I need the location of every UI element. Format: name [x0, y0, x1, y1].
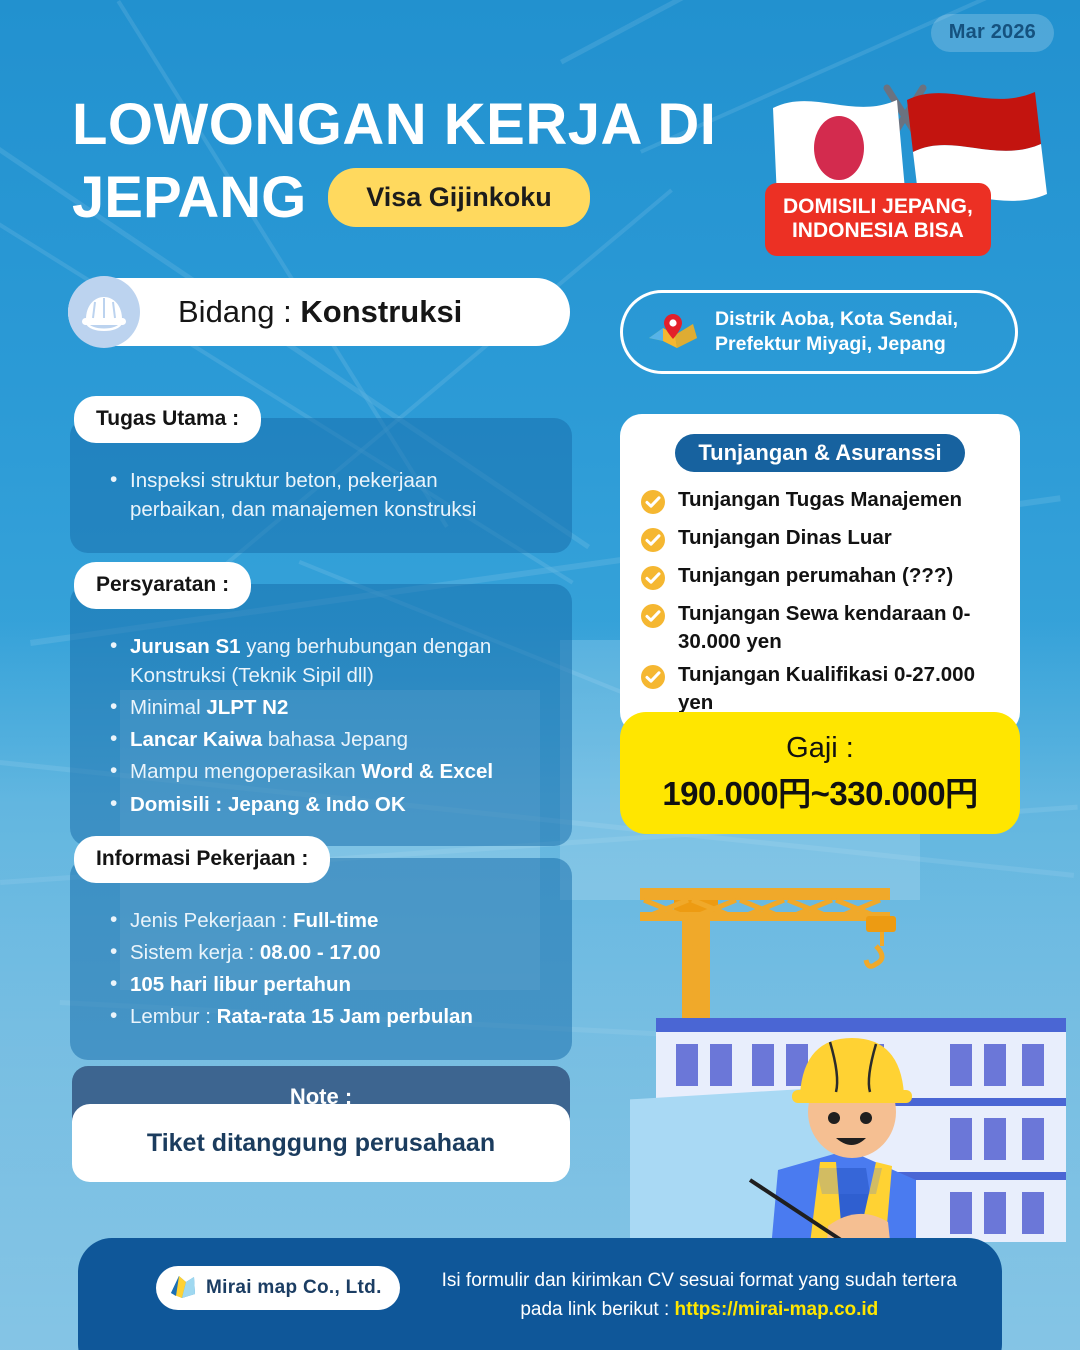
- check-circle-icon: [640, 664, 666, 695]
- footer-instructions: Isi formulir dan kirimkan CV sesuai form…: [442, 1266, 957, 1325]
- location-card: Distrik Aoba, Kota Sendai, Prefektur Miy…: [620, 290, 1018, 374]
- section-tag-informasi: Informasi Pekerjaan :: [74, 836, 330, 883]
- persyaratan-card: Jurusan S1 yang berhubungan dengan Konst…: [70, 584, 572, 846]
- footer-line2-prefix: pada link berikut :: [520, 1299, 674, 1320]
- tunjangan-heading: Tunjangan & Asuranssi: [675, 434, 965, 472]
- informasi-card: Jenis Pekerjaan : Full-time Sistem kerja…: [70, 858, 572, 1060]
- list-item: Jurusan S1 yang berhubungan dengan Konst…: [104, 632, 538, 690]
- list-item: Inspeksi struktur beton, pekerjaan perba…: [104, 466, 538, 524]
- list-item: Lembur : Rata-rata 15 Jam perbulan: [104, 1002, 538, 1031]
- list-item: Tunjangan Dinas Luar: [640, 524, 1010, 558]
- field-label: Bidang : Konstruksi: [178, 294, 462, 330]
- page-title-line2: JEPANG: [72, 169, 306, 227]
- list-item: Tunjangan Tugas Manajemen: [640, 486, 1010, 520]
- headline-group: LOWONGAN KERJA DI JEPANG Visa Gijinkoku: [72, 96, 772, 227]
- field-label-text: Bidang :: [178, 294, 300, 329]
- salary-label: Gaji :: [786, 732, 854, 765]
- construction-illustration: [630, 850, 1080, 1260]
- informasi-list: Jenis Pekerjaan : Full-time Sistem kerja…: [104, 906, 538, 1031]
- tugas-list: Inspeksi struktur beton, pekerjaan perba…: [104, 466, 538, 524]
- poster-root: Mar 2026 LOWONGAN KERJA DI JEPANG Visa G…: [0, 0, 1080, 1350]
- list-item: Tunjangan perumahan (???): [640, 562, 1010, 596]
- footer-line1: Isi formulir dan kirimkan CV sesuai form…: [442, 1270, 957, 1291]
- list-item: Tunjangan Kualifikasi 0-27.000 yen: [640, 661, 1010, 718]
- check-circle-icon: [640, 527, 666, 558]
- list-item: Jenis Pekerjaan : Full-time: [104, 906, 538, 935]
- page-title-line1: LOWONGAN KERJA DI: [72, 96, 772, 154]
- check-circle-icon: [640, 489, 666, 520]
- list-item: Minimal JLPT N2: [104, 693, 538, 722]
- field-card: Bidang : Konstruksi: [68, 278, 570, 346]
- section-tag-tugas: Tugas Utama :: [74, 396, 261, 443]
- section-tag-persyaratan: Persyaratan :: [74, 562, 251, 609]
- location-text: Distrik Aoba, Kota Sendai, Prefektur Miy…: [715, 307, 958, 357]
- salary-amount: 190.000円~330.000円: [662, 767, 977, 815]
- apply-link[interactable]: https://mirai-map.co.id: [675, 1299, 879, 1320]
- list-item: Sistem kerja : 08.00 - 17.00: [104, 938, 538, 967]
- list-item: 105 hari libur pertahun: [104, 970, 538, 999]
- persyaratan-list: Jurusan S1 yang berhubungan dengan Konst…: [104, 632, 538, 819]
- location-line1: Distrik Aoba, Kota Sendai,: [715, 308, 958, 330]
- salary-card: Gaji : 190.000円~330.000円: [620, 712, 1020, 834]
- visa-badge: Visa Gijinkoku: [328, 168, 590, 227]
- footer-bar: Mirai map Co., Ltd. Isi formulir dan kir…: [78, 1238, 1002, 1350]
- status-badge-domicile: DOMISILI JEPANG, INDONESIA BISA: [765, 183, 991, 256]
- list-item: Mampu mengoperasikan Word & Excel: [104, 757, 538, 786]
- company-logo: Mirai map Co., Ltd.: [156, 1266, 400, 1310]
- company-name: Mirai map Co., Ltd.: [206, 1277, 382, 1299]
- field-value: Konstruksi: [300, 294, 462, 329]
- location-line2: Prefektur Miyagi, Jepang: [715, 333, 946, 355]
- list-item: Domisili : Jepang & Indo OK: [104, 790, 538, 819]
- hard-hat-icon: [68, 276, 140, 348]
- list-item: Tunjangan Sewa kendaraan 0-30.000 yen: [640, 600, 1010, 657]
- list-item: Lancar Kaiwa bahasa Jepang: [104, 725, 538, 754]
- date-badge: Mar 2026: [931, 14, 1054, 52]
- check-circle-icon: [640, 565, 666, 596]
- tunjangan-list: Tunjangan Tugas Manajemen Tunjangan Dina…: [640, 486, 1010, 721]
- mirai-map-logo-icon: [168, 1271, 198, 1306]
- note-body: Tiket ditanggung perusahaan: [72, 1104, 570, 1182]
- check-circle-icon: [640, 603, 666, 634]
- map-pin-icon: [645, 308, 701, 357]
